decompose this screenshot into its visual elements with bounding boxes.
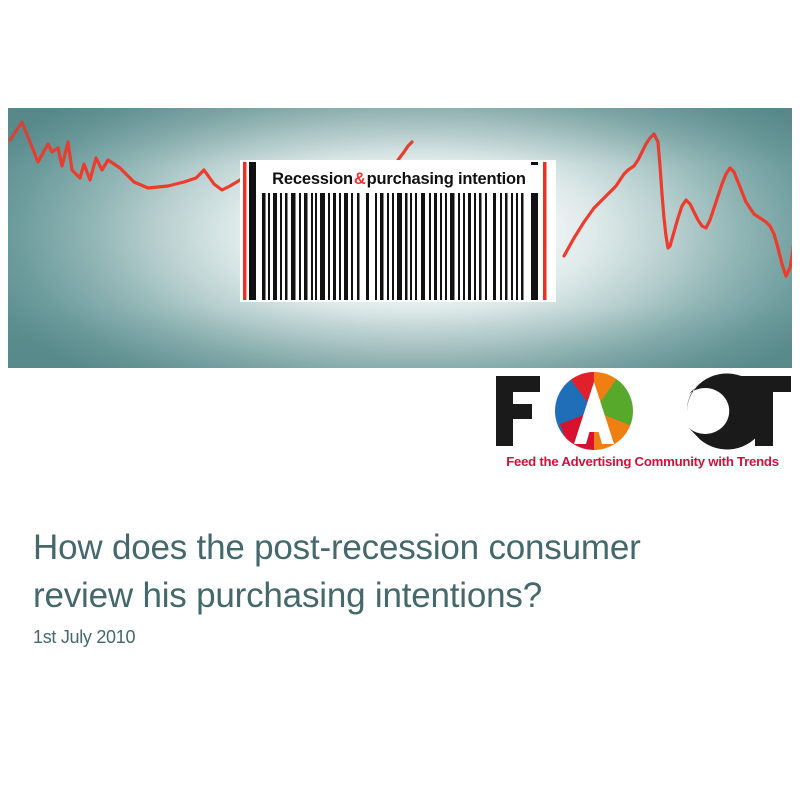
- barcode-guard-left: [243, 162, 247, 300]
- fact-tagline: Feed the Advertising Community with Tren…: [490, 454, 795, 469]
- barcode-graphic: Recession & purchasing intention: [240, 160, 556, 302]
- logo-letter-f: [496, 376, 540, 446]
- barcode-caption-ampersand: &: [353, 170, 367, 189]
- logo-letter-a-disc: [555, 368, 636, 454]
- hero-banner-image: Recession & purchasing intention: [8, 108, 792, 368]
- barcode-caption-pre: Recession: [272, 170, 353, 189]
- page-title: How does the post-recession consumer rev…: [33, 524, 753, 620]
- barcode-caption: Recession & purchasing intention: [259, 165, 539, 193]
- barcode-caption-post: purchasing intention: [367, 170, 526, 189]
- page-title-line-2: review his purchasing intentions?: [33, 576, 542, 615]
- slide-root: { "slide": { "title_line_1": "How does t…: [0, 0, 800, 800]
- fact-logo: Feed the Advertising Community with Tren…: [490, 368, 795, 480]
- fact-wordmark: [490, 368, 795, 454]
- barcode-guard-right: [543, 162, 547, 300]
- slide-date: 1st July 2010: [33, 627, 135, 648]
- trend-line-right: [564, 134, 792, 276]
- page-title-line-1: How does the post-recession consumer: [33, 528, 641, 567]
